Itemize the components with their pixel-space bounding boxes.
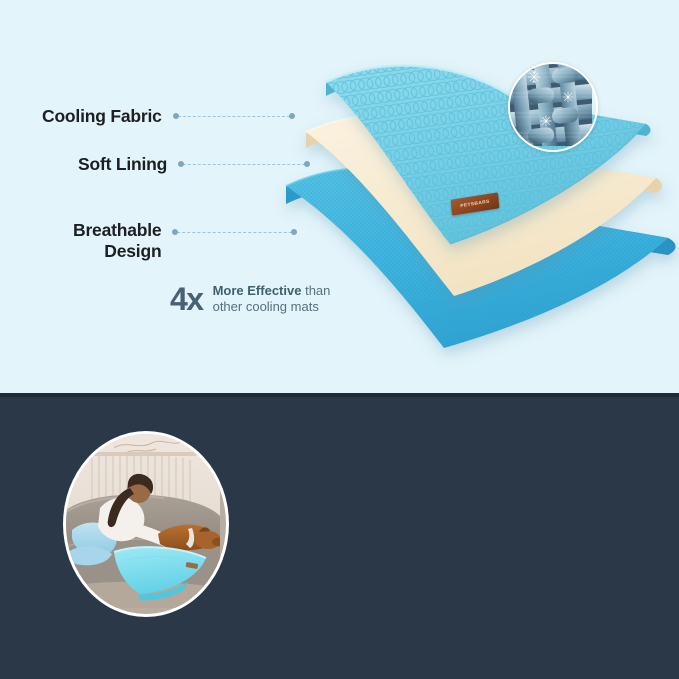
claim-strong-text: More Effective bbox=[213, 283, 302, 298]
dashed-connector-icon bbox=[172, 227, 297, 236]
callout-label-breathable-design: Breathable Design bbox=[73, 220, 161, 261]
layers-section: PETSBARS Cooling Fabric Soft Lining Brea… bbox=[0, 0, 679, 393]
callout-label-soft-lining: Soft Lining bbox=[78, 154, 167, 175]
woven-fabric-closeup-icon bbox=[508, 62, 598, 152]
product-infographic: PETSBARS Cooling Fabric Soft Lining Brea… bbox=[0, 0, 679, 679]
brand-tag-label: PETSBARS bbox=[460, 199, 490, 209]
callout-cooling-fabric: Cooling Fabric bbox=[42, 106, 295, 127]
callout-soft-lining: Soft Lining bbox=[78, 154, 310, 175]
dashed-connector-icon bbox=[173, 112, 295, 121]
lifestyle-photo bbox=[63, 431, 229, 617]
features-section: BUILT FOR FORM & FUNCTION bbox=[0, 393, 679, 679]
claim-line-2: other cooling mats bbox=[213, 299, 331, 315]
callout-label-cooling-fabric: Cooling Fabric bbox=[42, 106, 162, 127]
dashed-connector-icon bbox=[178, 160, 310, 169]
claim-rest-text: than bbox=[301, 283, 330, 298]
callout-breathable-design: Breathable Design bbox=[73, 220, 297, 261]
claim-text: More Effective than other cooling mats bbox=[213, 283, 331, 315]
effectiveness-claim: 4x More Effective than other cooling mat… bbox=[170, 283, 330, 315]
claim-multiplier: 4x bbox=[170, 283, 203, 315]
claim-line-1: More Effective than bbox=[213, 283, 331, 299]
